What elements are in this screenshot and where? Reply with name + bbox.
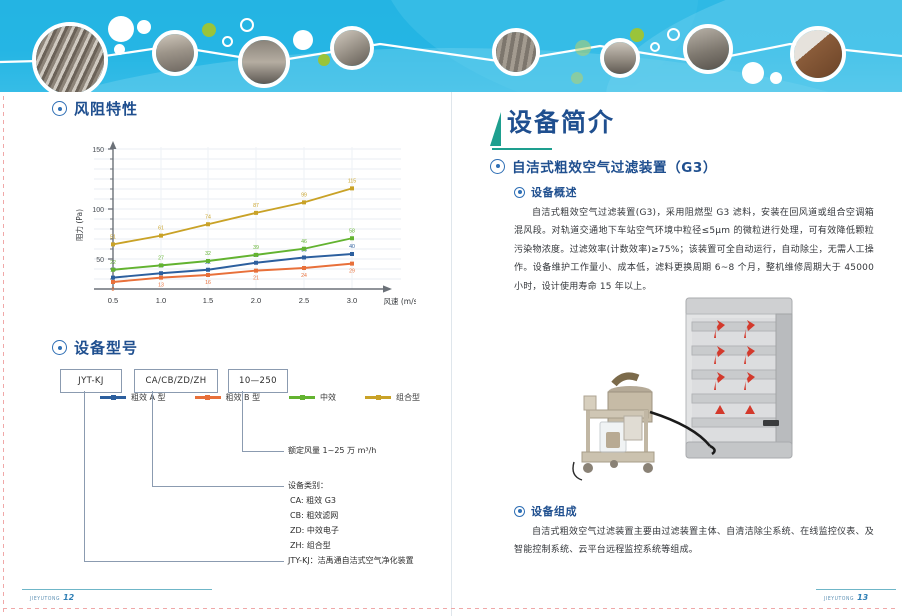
chart-marker-2-4 <box>302 247 306 251</box>
filter-wall-unit <box>686 298 792 458</box>
chart-xtick-3: 2.0 <box>251 296 261 305</box>
block-heading-overview: 设备概述 <box>514 184 577 200</box>
right-page: 设备简介 自洁式粗效空气过滤装置（G3） 设备概述 自洁式粗效空气过滤装置(G3… <box>452 92 902 616</box>
note-airflow: 额定风量 1~25 万 m³/h <box>288 443 376 458</box>
chart-value-label-3-1: 61 <box>158 226 164 232</box>
chart-line-3 <box>113 188 352 244</box>
leader-capacity-vertical <box>242 391 243 451</box>
leader-category-horizontal <box>152 486 284 487</box>
banner-dot-green-3 <box>575 40 591 56</box>
footer-brand-left: JIEYUTONG <box>30 597 60 603</box>
chart-value-label-1-1: 13 <box>158 283 164 289</box>
chart-value-label-2-2: 32 <box>205 251 211 257</box>
chart-line-2 <box>113 238 352 270</box>
resistance-chart: 150 100 50 阻力 (Pa) 0.5 1.0 1.5 2.0 2.5 3… <box>66 137 416 322</box>
resistance-chart-svg: 150 100 50 阻力 (Pa) 0.5 1.0 1.5 2.0 2.5 3… <box>66 137 416 322</box>
target-ring-icon <box>52 340 67 355</box>
banner-dot-green-4 <box>630 28 644 42</box>
block-heading-overview-label: 设备概述 <box>531 184 577 200</box>
chart-value-label-1-2: 16 <box>205 280 211 286</box>
subsection-title: 自洁式粗效空气过滤装置（G3） <box>512 156 717 176</box>
chart-marker-3-4 <box>302 200 306 204</box>
footer-page-left: 12 <box>63 593 74 602</box>
chart-marker-3-3 <box>254 211 258 215</box>
section-header-model: 设备型号 <box>52 337 138 358</box>
leader-base-vertical <box>84 391 85 561</box>
chart-xlabel: 风速 (m/s) <box>384 297 416 306</box>
footer-left: JIEYUTONG 12 <box>30 593 74 602</box>
target-ring-icon <box>52 101 67 116</box>
footer-brand-right: JIEYUTONG <box>824 597 854 603</box>
banner-photo-8 <box>790 26 846 82</box>
banner-dot-6 <box>293 30 313 50</box>
chart-marker-1-5 <box>350 262 354 266</box>
brochure-spread: 风阻特性 <box>0 0 902 616</box>
banner-dot-5 <box>240 18 254 32</box>
chart-marker-0-1 <box>159 271 163 275</box>
chart-value-label-2-1: 27 <box>158 255 164 261</box>
chart-marker-0-4 <box>302 256 306 260</box>
chart-marker-3-5 <box>350 186 354 190</box>
chart-value-label-1-5: 29 <box>349 269 355 275</box>
chart-value-label-1-4: 24 <box>301 273 307 279</box>
chart-xtick-0: 0.5 <box>108 296 118 305</box>
banner-photo-7 <box>683 24 733 74</box>
chart-marker-0-0 <box>111 276 115 280</box>
chart-marker-3-1 <box>159 234 163 238</box>
chart-xtick-4: 2.5 <box>299 296 309 305</box>
note-base: JTY-KJ：洁禹通自洁式空气净化装置 <box>288 553 414 568</box>
chart-marker-1-4 <box>302 266 306 270</box>
section-title-resistance: 风阻特性 <box>74 98 138 119</box>
block-body-composition: 自洁式粗效空气过滤装置主要由过滤装置主体、自清洁除尘系统、在线监控仪表、及智能控… <box>514 523 874 560</box>
banner-photo-3 <box>238 36 290 88</box>
chart-marker-1-2 <box>206 273 210 277</box>
title-underline <box>492 148 552 150</box>
equipment-photo-svg <box>538 292 838 492</box>
banner-photo-2 <box>152 30 198 76</box>
banner-dot-10 <box>770 72 782 84</box>
chart-value-label-1-0: 8 <box>112 287 115 293</box>
leader-base-horizontal <box>84 561 284 562</box>
chart-value-label-3-5: 115 <box>348 178 356 184</box>
chart-marker-3-0 <box>111 242 115 246</box>
banner-dot-3 <box>137 20 151 34</box>
chart-value-label-3-0: 51 <box>110 234 116 240</box>
banner-dot-9 <box>742 62 764 84</box>
banner-photo-4 <box>330 26 374 70</box>
chart-marker-2-5 <box>350 236 354 240</box>
chart-marker-1-1 <box>159 276 163 280</box>
chart-marker-1-3 <box>254 269 258 273</box>
note-category-zd: ZD: 中效电子 <box>290 523 339 538</box>
chart-marker-2-3 <box>254 253 258 257</box>
chart-marker-2-0 <box>111 268 115 272</box>
chart-ytick-100: 100 <box>92 207 104 214</box>
footer-right: JIEYUTONG 13 <box>824 593 868 602</box>
chart-ytick-50: 50 <box>96 257 104 264</box>
subsection-header: 自洁式粗效空气过滤装置（G3） <box>490 156 717 176</box>
chart-value-label-3-4: 99 <box>301 192 307 198</box>
leader-category-vertical <box>152 391 153 486</box>
banner-dot-green-2 <box>318 54 330 66</box>
chart-series-layer: 1318223036408131621242922273239465851617… <box>110 178 356 293</box>
page-title: 设备简介 <box>507 110 615 135</box>
chart-value-label-1-3: 21 <box>253 276 259 282</box>
chart-value-label-2-4: 46 <box>301 239 307 245</box>
model-code-diagram: JYT-KJ CA/CB/ZD/ZH 10—250 额定风量 1~25 万 m³… <box>60 369 440 569</box>
banner-connector-line <box>0 0 902 92</box>
chart-marker-0-5 <box>350 252 354 256</box>
block-heading-composition: 设备组成 <box>514 503 577 519</box>
note-category-cb: CB: 粗效滤网 <box>290 508 338 523</box>
chart-ytick-150: 150 <box>92 147 104 154</box>
chart-marker-1-0 <box>111 280 115 284</box>
banner-photo-5 <box>492 28 540 76</box>
footer-rule-right <box>816 589 896 590</box>
chart-xtick-5: 3.0 <box>347 296 357 305</box>
chart-xtick-1: 1.0 <box>156 296 166 305</box>
chart-value-label-0-5: 40 <box>349 244 355 250</box>
block-body-overview: 自洁式粗效空气过滤装置(G3)，采用阻燃型 G3 滤料，安装在回风道或组合空调箱… <box>514 204 874 296</box>
model-box-capacity: 10—250 <box>228 369 288 393</box>
footer-rule-left <box>22 589 212 590</box>
header-banner <box>0 0 902 92</box>
chart-value-label-2-5: 58 <box>349 228 355 234</box>
footer-page-right: 13 <box>857 593 868 602</box>
banner-dot-4 <box>222 36 233 47</box>
chart-xtick-2: 1.5 <box>203 296 213 305</box>
chart-marker-2-1 <box>159 263 163 267</box>
chart-ylabel: 阻力 (Pa) <box>74 209 84 241</box>
chart-vgridlines <box>161 147 352 289</box>
note-category-title: 设备类别： <box>288 478 328 493</box>
banner-photo-6 <box>600 38 640 78</box>
left-page: 风阻特性 <box>0 92 451 616</box>
bullet-ring-icon <box>514 187 525 198</box>
target-ring-icon <box>490 159 505 174</box>
model-box-category: CA/CB/ZD/ZH <box>134 369 218 393</box>
block-heading-composition-label: 设备组成 <box>531 503 577 519</box>
equipment-photo <box>538 292 838 492</box>
chart-y-axis-arrow <box>110 141 117 149</box>
banner-dot-green-1 <box>202 23 216 37</box>
page-title-block: 设备简介 <box>490 110 615 146</box>
chart-x-axis-arrow <box>383 285 392 292</box>
chart-value-label-2-3: 39 <box>253 245 259 251</box>
slash-accent-icon <box>490 112 501 146</box>
section-title-model: 设备型号 <box>74 337 138 358</box>
banner-dot-1 <box>108 16 134 42</box>
banner-dot-green-5 <box>571 72 583 84</box>
model-box-prefix: JYT-KJ <box>60 369 122 393</box>
chart-value-label-3-3: 87 <box>253 203 259 209</box>
leader-capacity-horizontal <box>242 451 284 452</box>
banner-dot-8 <box>667 28 680 41</box>
chart-marker-3-2 <box>206 222 210 226</box>
chart-marker-0-2 <box>206 268 210 272</box>
bullet-ring-icon <box>514 506 525 517</box>
chart-marker-2-2 <box>206 259 210 263</box>
banner-dot-2 <box>114 44 125 55</box>
note-category-ca: CA: 粗效 G3 <box>290 493 336 508</box>
chart-marker-0-3 <box>254 261 258 265</box>
banner-dot-7 <box>650 42 660 52</box>
section-header-resistance: 风阻特性 <box>52 98 138 119</box>
banner-photo-1 <box>32 22 108 92</box>
chart-value-label-3-2: 74 <box>205 214 211 220</box>
note-category-zh: ZH: 组合型 <box>290 538 331 553</box>
chart-value-label-2-0: 22 <box>110 260 116 266</box>
